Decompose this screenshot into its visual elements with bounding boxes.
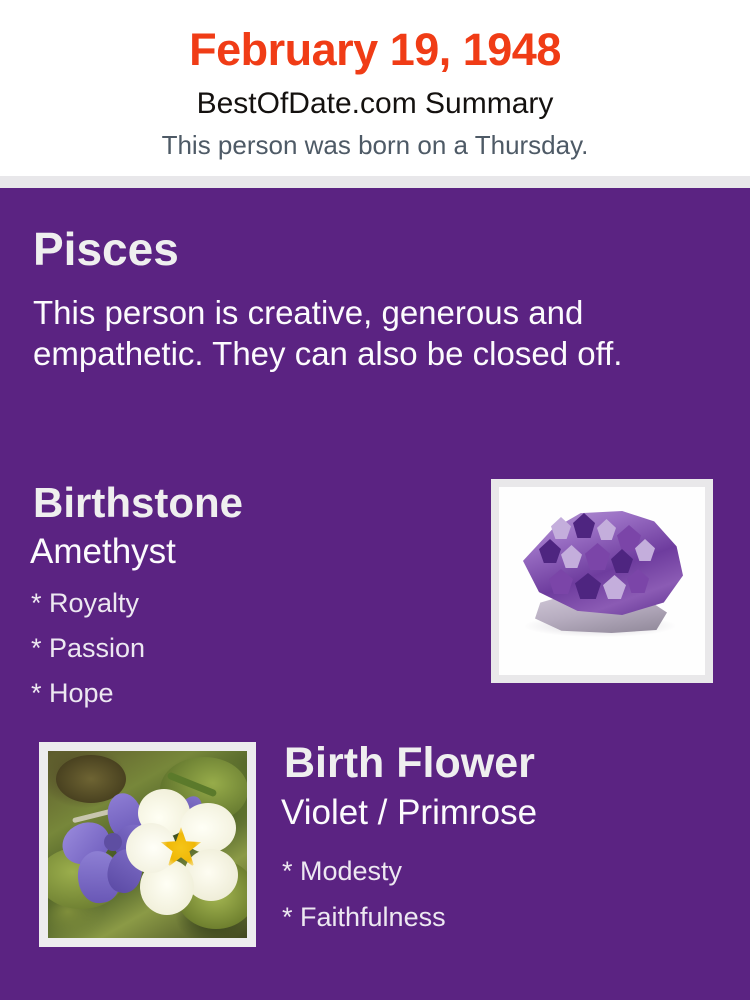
violet-primrose-photo bbox=[48, 751, 247, 938]
page-title: February 19, 1948 bbox=[0, 24, 750, 76]
birthstone-heading: Birthstone bbox=[33, 478, 243, 528]
list-item: * Hope bbox=[31, 671, 451, 716]
birth-flower-image-frame bbox=[39, 742, 256, 947]
list-item: * Modesty bbox=[282, 848, 702, 894]
summary-page: February 19, 1948 BestOfDate.com Summary… bbox=[0, 0, 750, 1000]
zodiac-description: This person is creative, generous and em… bbox=[33, 292, 708, 374]
list-item: * Passion bbox=[31, 626, 451, 671]
list-item: * Faithfulness bbox=[282, 894, 702, 940]
list-item: * Royalty bbox=[31, 581, 451, 626]
amethyst-photo bbox=[499, 487, 705, 675]
born-day-text: This person was born on a Thursday. bbox=[0, 129, 750, 161]
birth-flower-name: Violet / Primrose bbox=[281, 792, 537, 834]
zodiac-sign-heading: Pisces bbox=[33, 222, 179, 276]
birthstone-trait-list: * Royalty * Passion * Hope bbox=[31, 581, 451, 716]
site-summary-text: BestOfDate.com Summary bbox=[0, 86, 750, 122]
birth-flower-heading: Birth Flower bbox=[284, 738, 535, 789]
summary-panel: Pisces This person is creative, generous… bbox=[0, 188, 750, 1000]
violet-center bbox=[104, 833, 122, 851]
birthstone-name: Amethyst bbox=[30, 531, 176, 573]
birthstone-image-frame bbox=[491, 479, 713, 683]
birth-flower-trait-list: * Modesty * Faithfulness bbox=[282, 848, 702, 940]
header-divider bbox=[0, 176, 750, 188]
page-header: February 19, 1948 BestOfDate.com Summary… bbox=[0, 0, 750, 176]
